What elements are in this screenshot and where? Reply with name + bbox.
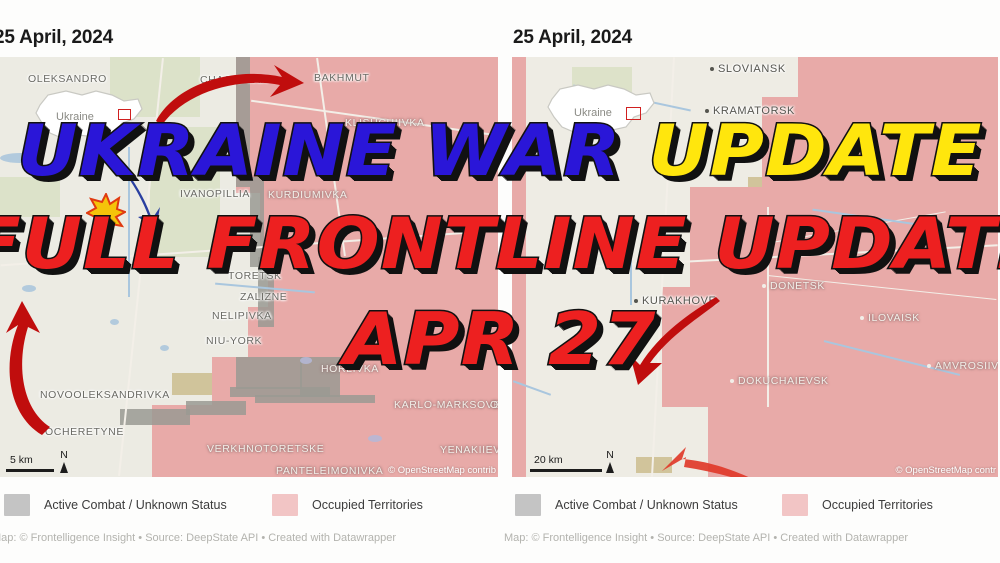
map-label: BAKHMUT [314,72,370,84]
occupied-territory-area [512,57,526,477]
north-arrow: N [602,449,618,473]
map-label: YENAKIIEVE [440,444,498,456]
occupied-territory-area [708,387,998,477]
city-dot-icon [710,67,714,71]
active-combat-zone [250,177,264,267]
water-body [368,435,382,442]
river-line [630,225,632,305]
legend-item-active-combat[interactable]: Active Combat / Unknown Status [4,494,227,516]
map-label: DONETSK [762,280,825,292]
legend-swatch-pink [782,494,808,516]
legend-swatch-grey [515,494,541,516]
osm-attribution[interactable]: © OpenStreetMap contr [896,465,996,476]
water-body [0,153,40,163]
active-combat-zone [236,357,302,389]
map-label: NIU-YORK [206,335,262,347]
city-dot-icon [927,364,931,368]
screenshot-root: 25 April, 2024 [0,0,1000,563]
scale-bar-label: 20 km [534,454,563,466]
water-body [22,285,36,292]
map-label: OLEKSANDRO [28,73,107,85]
map-label: NELIPIVKA [212,310,272,322]
map-label: OL [490,399,498,411]
city-dot-icon [730,379,734,383]
legend-item-occupied[interactable]: Occupied Territories [782,494,933,516]
active-combat-zone [120,409,190,425]
occupied-territory-area [268,245,498,315]
north-arrow-label: N [60,449,68,461]
map-label: HORLIVKA [321,363,379,375]
map-panel-right: 25 April, 2024 [510,0,1000,563]
map-label: KURAKHOVE [634,295,716,307]
credit-left: Map: © Frontelligence Insight • Source: … [0,532,396,544]
city-dot-icon [634,299,638,303]
legend-swatch-pink [272,494,298,516]
map-label: IVANOPILLIA [180,188,250,200]
legend-label: Active Combat / Unknown Status [555,498,738,512]
map-label: ZALIZNE [240,291,287,303]
map-panel-left: 25 April, 2024 [0,0,498,563]
active-combat-zone [186,401,246,415]
north-arrow-label: N [606,449,614,461]
north-arrow-icon [60,462,68,473]
city-dot-icon [860,316,864,320]
terrain-green-patch [0,177,60,217]
map-label: AMVROSIIVKA [927,360,998,372]
river-line [128,147,130,297]
legend-label: Occupied Territories [822,498,933,512]
north-arrow-icon [606,462,614,473]
map-label: DOKUCHAIEVSK [730,375,829,387]
map-label: KRAMATORSK [705,105,795,117]
legend-swatch-grey [4,494,30,516]
north-arrow: N [56,449,72,473]
inset-locator-box [626,107,641,120]
water-body [160,345,169,351]
occupied-territory-area [900,57,998,97]
credit-right: Map: © Frontelligence Insight • Source: … [504,532,908,544]
city-dot-icon [705,109,709,113]
map-left-canvas[interactable]: Ukraine OLEKSANDRO CHASIV YAR BAKHMUT KL… [0,57,498,477]
map-label: KURDIUMIVKA [268,189,348,201]
inset-country-label: Ukraine [574,107,612,119]
panel-left-date-title: 25 April, 2024 [0,27,113,49]
legend-label: Active Combat / Unknown Status [44,498,227,512]
map-label: OCHERETYNE [45,426,124,438]
ukraine-inset-map: Ukraine [538,73,658,143]
legend-item-occupied[interactable]: Occupied Territories [272,494,423,516]
water-body [110,319,119,325]
map-label: NOVOOLEKSANDRIVKA [40,389,170,401]
map-label: TORETSK [228,270,282,282]
water-body [300,357,312,364]
map-label: SLOVIANSK [710,63,786,75]
terrain-olive-patch [636,457,672,473]
map-label: VERKHNOTORETSKE [207,443,324,455]
explosion-marker [86,193,126,233]
osm-attribution[interactable]: © OpenStreetMap contrib [388,465,496,476]
legend-item-active-combat[interactable]: Active Combat / Unknown Status [515,494,738,516]
ukraine-inset-map: Ukraine [26,79,146,149]
map-label: KARLO-MARKSOVE [394,399,498,411]
map-label: CHASIV YAR [200,74,269,86]
map-label: ILOVAISK [860,312,920,324]
inset-locator-box [118,109,131,120]
map-label: PANTELEIMONIVKA [276,465,383,477]
city-dot-icon [762,284,766,288]
legend-label: Occupied Territories [312,498,423,512]
inset-country-label: Ukraine [56,111,94,123]
map-label: KLISHCHIIVKA [345,117,425,129]
panel-right-date-title: 25 April, 2024 [513,27,632,49]
scale-bar-label: 5 km [10,454,33,466]
map-right-canvas[interactable]: Ukraine SLOVIANSK KRAMATORSK KURAKHOVE D… [512,57,998,477]
